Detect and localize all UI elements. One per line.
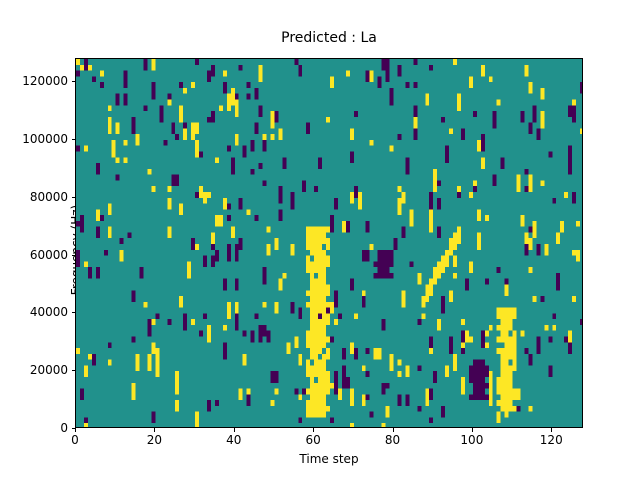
plot-area (75, 58, 583, 428)
x-tick-label: 40 (204, 433, 264, 447)
page-title: Predicted : La (75, 30, 583, 46)
x-tick-label: 0 (45, 433, 105, 447)
x-tick-label: 80 (363, 433, 423, 447)
y-tick-label: 20000 (0, 363, 68, 377)
y-tick-label: 60000 (0, 248, 68, 262)
y-tick-label: 40000 (0, 305, 68, 319)
y-tick-label: 80000 (0, 190, 68, 204)
x-tick-mark (551, 428, 552, 432)
x-tick-label: 20 (124, 433, 184, 447)
x-tick-mark (154, 428, 155, 432)
x-tick-mark (234, 428, 235, 432)
x-tick-label: 60 (283, 433, 343, 447)
x-axis-label: Time step (75, 452, 583, 466)
x-tick-mark (75, 428, 76, 432)
x-tick-label: 120 (521, 433, 581, 447)
x-tick-mark (393, 428, 394, 432)
y-tick-label: 120000 (0, 74, 68, 88)
matplotlib-figure: Predicted : La Frequency (Hz) 0200004000… (0, 0, 640, 480)
x-tick-label: 100 (442, 433, 502, 447)
x-tick-mark (472, 428, 473, 432)
y-tick-label: 100000 (0, 132, 68, 146)
x-tick-mark (313, 428, 314, 432)
spectrogram-heatmap (76, 59, 583, 428)
